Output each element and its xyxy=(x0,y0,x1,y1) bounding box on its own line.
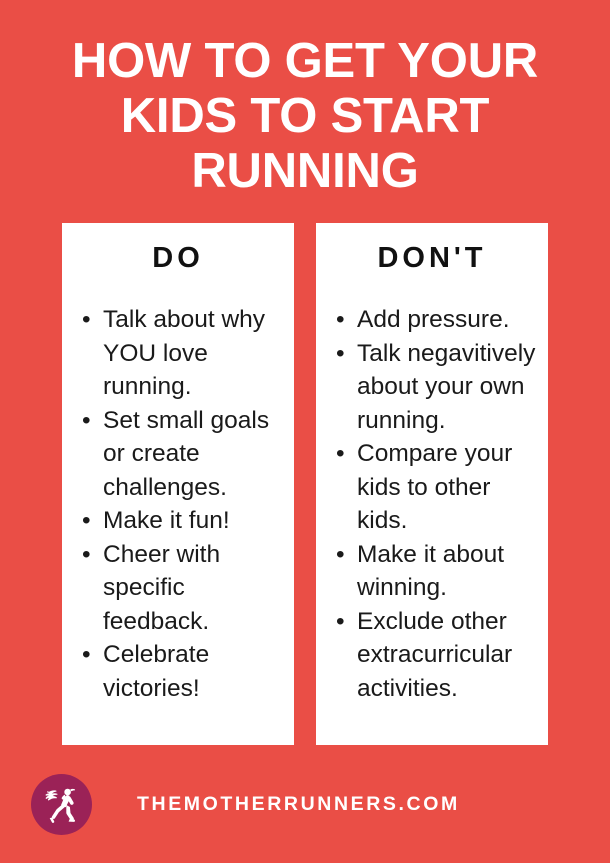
list-item-text: Cheer with specific feedback. xyxy=(103,541,220,635)
list-item-text: Make it fun! xyxy=(103,507,230,534)
title-line-1: HOW TO GET YOUR xyxy=(40,34,570,89)
bullet-icon: • xyxy=(336,538,345,572)
do-card: DO • Talk about why YOU love running. • … xyxy=(62,223,294,745)
site-url[interactable]: THEMOTHERRUNNERS.COM xyxy=(137,793,460,816)
list-item: • Make it about winning. xyxy=(336,538,540,605)
list-item-text: Celebrate victories! xyxy=(103,641,209,702)
title-line-3: RUNNING xyxy=(40,144,570,199)
do-card-heading: DO xyxy=(62,241,294,275)
list-item-text: Set small goals or create challenges. xyxy=(103,407,269,501)
poster: HOW TO GET YOUR KIDS TO START RUNNING DO… xyxy=(0,0,610,863)
bullet-icon: • xyxy=(336,437,345,471)
list-item: • Compare your kids to other kids. xyxy=(336,437,540,538)
list-item: • Exclude other extracurricular activiti… xyxy=(336,605,540,706)
list-item-text: Add pressure. xyxy=(357,306,510,333)
winged-runner-logo-icon xyxy=(31,774,92,835)
bullet-icon: • xyxy=(82,538,91,572)
list-item-text: Exclude other extracurricular activities… xyxy=(357,608,512,702)
list-item: • Set small goals or create challenges. xyxy=(82,404,286,505)
list-item: • Make it fun! xyxy=(82,504,286,538)
list-item: • Add pressure. xyxy=(336,303,540,337)
list-item: • Talk about why YOU love running. xyxy=(82,303,286,404)
bullet-icon: • xyxy=(82,638,91,672)
dont-card-heading: DON'T xyxy=(316,241,548,275)
comparison-columns: DO • Talk about why YOU love running. • … xyxy=(0,223,610,745)
list-item-text: Make it about winning. xyxy=(357,541,504,602)
list-item-text: Talk about why YOU love running. xyxy=(103,306,265,400)
dont-list: • Add pressure. • Talk negavitively abou… xyxy=(316,303,548,705)
list-item: • Talk negavitively about your own runni… xyxy=(336,337,540,438)
bullet-icon: • xyxy=(82,303,91,337)
list-item-text: Talk negavitively about your own running… xyxy=(357,340,535,434)
list-item: • Cheer with specific feedback. xyxy=(82,538,286,639)
footer: THEMOTHERRUNNERS.COM xyxy=(0,745,610,863)
bullet-icon: • xyxy=(336,303,345,337)
list-item: • Celebrate victories! xyxy=(82,638,286,705)
bullet-icon: • xyxy=(82,504,91,538)
title-line-2: KIDS TO START xyxy=(40,89,570,144)
list-item-text: Compare your kids to other kids. xyxy=(357,440,512,534)
bullet-icon: • xyxy=(336,337,345,371)
bullet-icon: • xyxy=(336,605,345,639)
bullet-icon: • xyxy=(82,404,91,438)
do-list: • Talk about why YOU love running. • Set… xyxy=(62,303,294,705)
page-title: HOW TO GET YOUR KIDS TO START RUNNING xyxy=(0,0,610,199)
dont-card: DON'T • Add pressure. • Talk negavitivel… xyxy=(316,223,548,745)
